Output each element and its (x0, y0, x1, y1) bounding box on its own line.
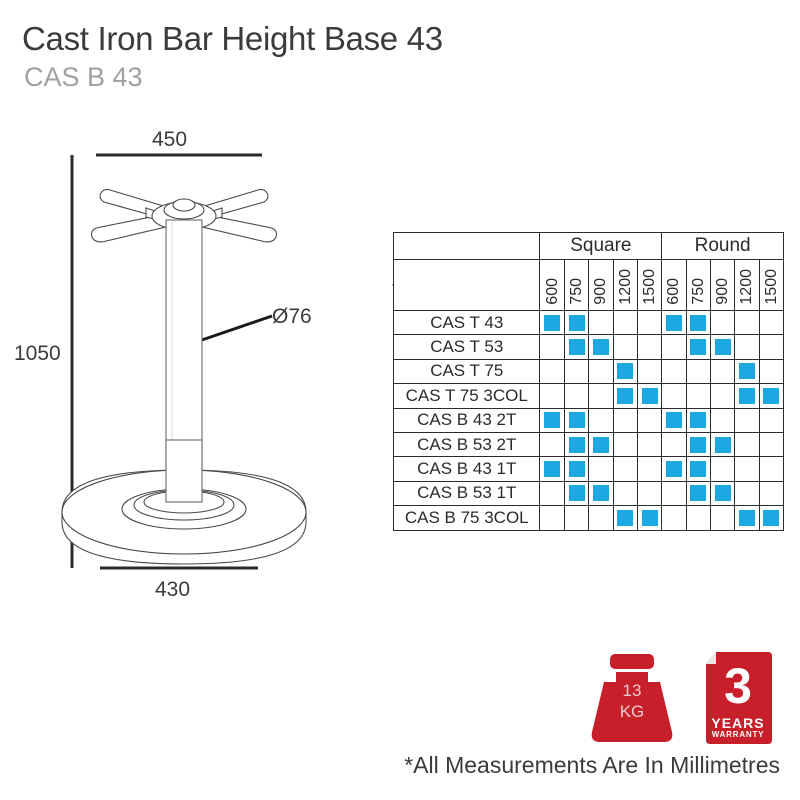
cell-square-900 (589, 311, 613, 335)
cell-round-600 (662, 481, 686, 505)
table-row: CAS T 43 (394, 311, 784, 335)
selected-mark (666, 412, 682, 428)
selected-mark (666, 461, 682, 477)
cell-square-600 (540, 359, 564, 383)
cell-square-750 (564, 384, 588, 408)
cell-round-1200 (735, 384, 759, 408)
leader-line-diameter (196, 316, 272, 342)
selected-mark (569, 461, 585, 477)
row-label: CAS T 75 (394, 359, 540, 383)
cell-square-750 (564, 359, 588, 383)
empty-mark (617, 339, 633, 355)
cell-square-750 (564, 311, 588, 335)
dimension-base-width: 430 (155, 578, 190, 602)
row-label: CAS T 53 (394, 335, 540, 359)
cell-round-1200 (735, 432, 759, 456)
cell-square-600 (540, 311, 564, 335)
cell-square-600 (540, 335, 564, 359)
selected-mark (617, 363, 633, 379)
empty-mark (593, 412, 609, 428)
empty-mark (763, 412, 779, 428)
empty-mark (569, 388, 585, 404)
cell-round-900 (710, 359, 734, 383)
selected-mark (593, 339, 609, 355)
warranty-tag-icon (700, 648, 776, 748)
empty-mark (617, 485, 633, 501)
cell-square-1200 (613, 432, 637, 456)
cell-square-1500 (637, 408, 661, 432)
cell-round-600 (662, 457, 686, 481)
selected-mark (544, 315, 560, 331)
selected-mark (569, 485, 585, 501)
row-label: CAS B 75 3COL (394, 506, 540, 530)
selected-mark (666, 315, 682, 331)
empty-mark (593, 388, 609, 404)
size-header-square-750: 750 (564, 260, 588, 311)
cell-square-1200 (613, 506, 637, 530)
corner-spacer (394, 233, 540, 260)
size-header-square-1200: 1200 (613, 260, 637, 311)
table-row: CAS B 43 2T (394, 408, 784, 432)
empty-mark (642, 437, 658, 453)
selected-mark (763, 510, 779, 526)
selected-mark (763, 388, 779, 404)
empty-mark (617, 437, 633, 453)
group-header-square: Square (540, 233, 662, 260)
cell-round-1200 (735, 311, 759, 335)
sizes-table-head: Square Round 600 750 900 1200 1500 600 7… (394, 233, 784, 311)
selected-mark (715, 339, 731, 355)
cell-round-600 (662, 359, 686, 383)
selected-mark (544, 461, 560, 477)
selected-mark (739, 363, 755, 379)
selected-mark (569, 412, 585, 428)
cell-round-1200 (735, 457, 759, 481)
size-header-square-900: 900 (589, 260, 613, 311)
cell-square-1200 (613, 359, 637, 383)
cell-round-750 (686, 384, 710, 408)
cell-square-750 (564, 506, 588, 530)
size-header-square-600: 600 (540, 260, 564, 311)
cell-square-600 (540, 481, 564, 505)
empty-mark (763, 437, 779, 453)
size-header-round-900: 900 (710, 260, 734, 311)
empty-mark (617, 461, 633, 477)
size-header-round-1500: 1500 (759, 260, 783, 311)
empty-mark (666, 339, 682, 355)
cell-square-1500 (637, 457, 661, 481)
cell-square-1200 (613, 384, 637, 408)
cell-round-1500 (759, 384, 783, 408)
corner-spacer-2 (394, 260, 540, 311)
cell-round-750 (686, 506, 710, 530)
empty-mark (544, 485, 560, 501)
empty-mark (666, 485, 682, 501)
empty-mark (763, 461, 779, 477)
selected-mark (690, 315, 706, 331)
empty-mark (690, 388, 706, 404)
cell-round-1200 (735, 481, 759, 505)
empty-mark (666, 388, 682, 404)
cell-round-1500 (759, 408, 783, 432)
cell-square-900 (589, 408, 613, 432)
empty-mark (593, 363, 609, 379)
page-title: Cast Iron Bar Height Base 43 (22, 20, 443, 58)
selected-mark (690, 437, 706, 453)
cell-square-1500 (637, 311, 661, 335)
empty-mark (593, 510, 609, 526)
table-row: CAS T 75 3COL (394, 384, 784, 408)
empty-mark (544, 510, 560, 526)
cell-square-900 (589, 335, 613, 359)
cell-round-750 (686, 335, 710, 359)
empty-mark (715, 363, 731, 379)
empty-mark (715, 388, 731, 404)
table-row: CAS B 53 2T (394, 432, 784, 456)
empty-mark (569, 510, 585, 526)
empty-mark (739, 339, 755, 355)
group-header-row: Square Round (394, 233, 784, 260)
product-code: CAS B 43 (24, 62, 143, 93)
empty-mark (617, 315, 633, 331)
cell-round-1200 (735, 359, 759, 383)
selected-mark (569, 437, 585, 453)
cell-square-1500 (637, 481, 661, 505)
cell-round-1200 (735, 506, 759, 530)
cell-round-750 (686, 359, 710, 383)
empty-mark (763, 363, 779, 379)
cell-round-750 (686, 311, 710, 335)
sizes-table-body: CAS T 43CAS T 53CAS T 75CAS T 75 3COLCAS… (394, 311, 784, 531)
cell-round-900 (710, 408, 734, 432)
empty-mark (739, 315, 755, 331)
cell-square-750 (564, 481, 588, 505)
cell-round-1200 (735, 335, 759, 359)
empty-mark (642, 485, 658, 501)
empty-mark (544, 388, 560, 404)
empty-mark (715, 510, 731, 526)
empty-mark (690, 363, 706, 379)
table-row: CAS T 53 (394, 335, 784, 359)
empty-mark (544, 339, 560, 355)
selected-mark (617, 388, 633, 404)
cell-square-1200 (613, 481, 637, 505)
size-header-square-1500: 1500 (637, 260, 661, 311)
size-header-round-1200: 1200 (735, 260, 759, 311)
cell-round-1500 (759, 335, 783, 359)
empty-mark (666, 437, 682, 453)
cell-square-900 (589, 457, 613, 481)
cell-round-750 (686, 432, 710, 456)
empty-mark (642, 412, 658, 428)
cell-round-1500 (759, 359, 783, 383)
cell-square-900 (589, 359, 613, 383)
selected-mark (715, 437, 731, 453)
cell-round-900 (710, 335, 734, 359)
table-row: CAS B 75 3COL (394, 506, 784, 530)
cell-round-900 (710, 506, 734, 530)
row-label: CAS T 43 (394, 311, 540, 335)
column-foot (166, 440, 202, 502)
selected-mark (739, 388, 755, 404)
dimension-height: 1050 (14, 342, 61, 366)
cell-square-900 (589, 506, 613, 530)
cell-round-900 (710, 384, 734, 408)
selected-mark (690, 412, 706, 428)
empty-mark (593, 461, 609, 477)
cell-square-900 (589, 384, 613, 408)
cell-round-750 (686, 408, 710, 432)
selected-mark (569, 315, 585, 331)
cell-square-600 (540, 408, 564, 432)
table-row: CAS B 53 1T (394, 481, 784, 505)
empty-mark (642, 315, 658, 331)
cell-square-750 (564, 457, 588, 481)
row-label: CAS B 53 2T (394, 432, 540, 456)
cell-square-750 (564, 432, 588, 456)
cell-round-1200 (735, 408, 759, 432)
selected-mark (690, 339, 706, 355)
cell-round-1500 (759, 506, 783, 530)
empty-mark (617, 412, 633, 428)
empty-mark (739, 437, 755, 453)
dimension-column-diameter: Ø76 (272, 305, 312, 329)
selected-mark (642, 388, 658, 404)
selected-mark (715, 485, 731, 501)
cell-square-1500 (637, 335, 661, 359)
cell-square-600 (540, 506, 564, 530)
empty-mark (763, 485, 779, 501)
dimension-top-width: 450 (152, 128, 187, 152)
cell-square-1500 (637, 432, 661, 456)
empty-mark (739, 461, 755, 477)
empty-mark (666, 510, 682, 526)
cell-round-600 (662, 384, 686, 408)
size-header-round-750: 750 (686, 260, 710, 311)
size-header-row: 600 750 900 1200 1500 600 750 900 1200 1… (394, 260, 784, 311)
empty-mark (763, 339, 779, 355)
selected-mark (617, 510, 633, 526)
selected-mark (569, 339, 585, 355)
row-label: CAS B 43 2T (394, 408, 540, 432)
cell-round-750 (686, 457, 710, 481)
cell-square-1500 (637, 506, 661, 530)
weight-icon (588, 652, 676, 744)
selected-mark (739, 510, 755, 526)
selected-mark (593, 437, 609, 453)
table-row: CAS B 43 1T (394, 457, 784, 481)
technical-drawing: 450 1050 430 Ø76 (0, 110, 380, 630)
row-label: CAS B 43 1T (394, 457, 540, 481)
empty-mark (642, 363, 658, 379)
cell-round-900 (710, 432, 734, 456)
cell-square-1500 (637, 359, 661, 383)
measurements-note: *All Measurements Are In Millimetres (404, 752, 780, 779)
group-header-round: Round (662, 233, 784, 260)
cell-square-750 (564, 335, 588, 359)
badges-group: 13 KG 3 YEARS WARRANTY (588, 648, 788, 748)
row-label: CAS B 53 1T (394, 481, 540, 505)
cell-round-900 (710, 311, 734, 335)
cell-square-1200 (613, 457, 637, 481)
cell-round-1500 (759, 432, 783, 456)
cell-round-600 (662, 432, 686, 456)
selected-mark (690, 485, 706, 501)
cell-round-1500 (759, 311, 783, 335)
selected-mark (642, 510, 658, 526)
cell-round-1500 (759, 481, 783, 505)
empty-mark (544, 363, 560, 379)
cell-round-600 (662, 408, 686, 432)
cell-square-900 (589, 432, 613, 456)
empty-mark (763, 315, 779, 331)
table-row: CAS T 75 (394, 359, 784, 383)
empty-mark (690, 510, 706, 526)
empty-mark (544, 437, 560, 453)
cell-square-1200 (613, 335, 637, 359)
empty-mark (642, 339, 658, 355)
cell-round-600 (662, 311, 686, 335)
cell-round-900 (710, 481, 734, 505)
selected-mark (690, 461, 706, 477)
empty-mark (593, 315, 609, 331)
cell-square-1500 (637, 384, 661, 408)
empty-mark (715, 412, 731, 428)
empty-mark (739, 412, 755, 428)
empty-mark (666, 363, 682, 379)
empty-mark (569, 363, 585, 379)
cell-square-600 (540, 384, 564, 408)
cell-round-1500 (759, 457, 783, 481)
table-base-illustration (0, 110, 380, 630)
selected-mark (593, 485, 609, 501)
cell-square-1200 (613, 408, 637, 432)
selected-mark (544, 412, 560, 428)
empty-mark (642, 461, 658, 477)
cell-round-600 (662, 506, 686, 530)
empty-mark (715, 315, 731, 331)
empty-mark (715, 461, 731, 477)
size-header-round-600: 600 (662, 260, 686, 311)
cell-round-600 (662, 335, 686, 359)
cell-square-600 (540, 432, 564, 456)
empty-mark (739, 485, 755, 501)
cell-square-1200 (613, 311, 637, 335)
cell-square-900 (589, 481, 613, 505)
cell-square-600 (540, 457, 564, 481)
cell-round-750 (686, 481, 710, 505)
row-label: CAS T 75 3COL (394, 384, 540, 408)
cell-round-900 (710, 457, 734, 481)
sizes-table: Square Round 600 750 900 1200 1500 600 7… (393, 232, 784, 531)
cell-square-750 (564, 408, 588, 432)
